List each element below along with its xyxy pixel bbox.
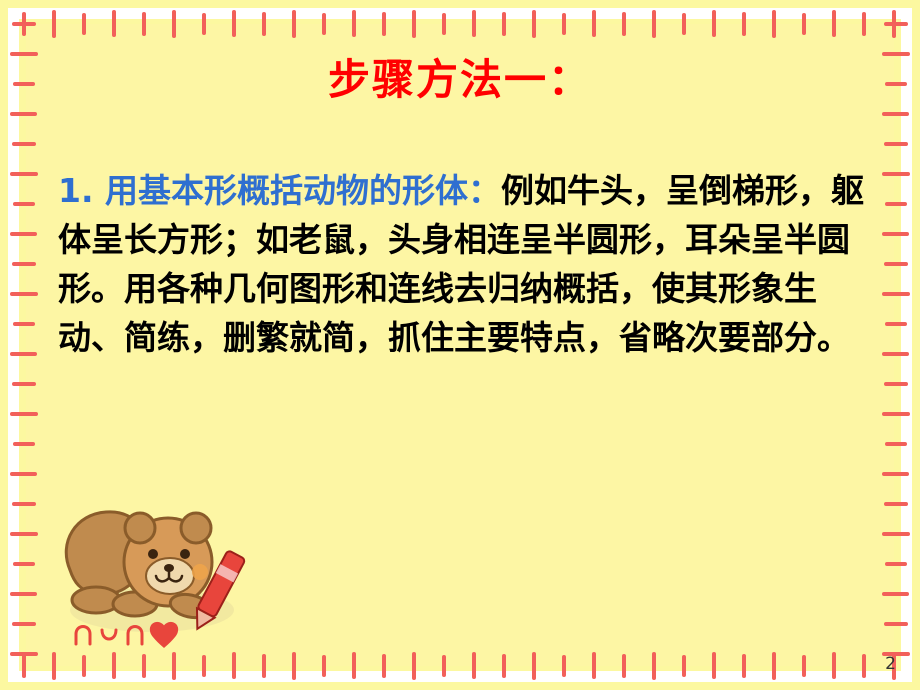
slide-title: 步骤方法一：	[0, 57, 920, 103]
slide-canvas: 步骤方法一： 1. 用基本形概括动物的形体：例如牛头，呈倒梯形，躯体呈长方形；如…	[0, 0, 920, 690]
slide-body: 1. 用基本形概括动物的形体：例如牛头，呈倒梯形，躯体呈长方形；如老鼠，头身相连…	[58, 166, 868, 362]
list-number: 1.	[58, 171, 94, 210]
cartoon-bear-icon	[40, 462, 270, 652]
page-number: 2	[885, 654, 896, 674]
body-lead-text: 用基本形概括动物的形体：	[105, 171, 501, 210]
